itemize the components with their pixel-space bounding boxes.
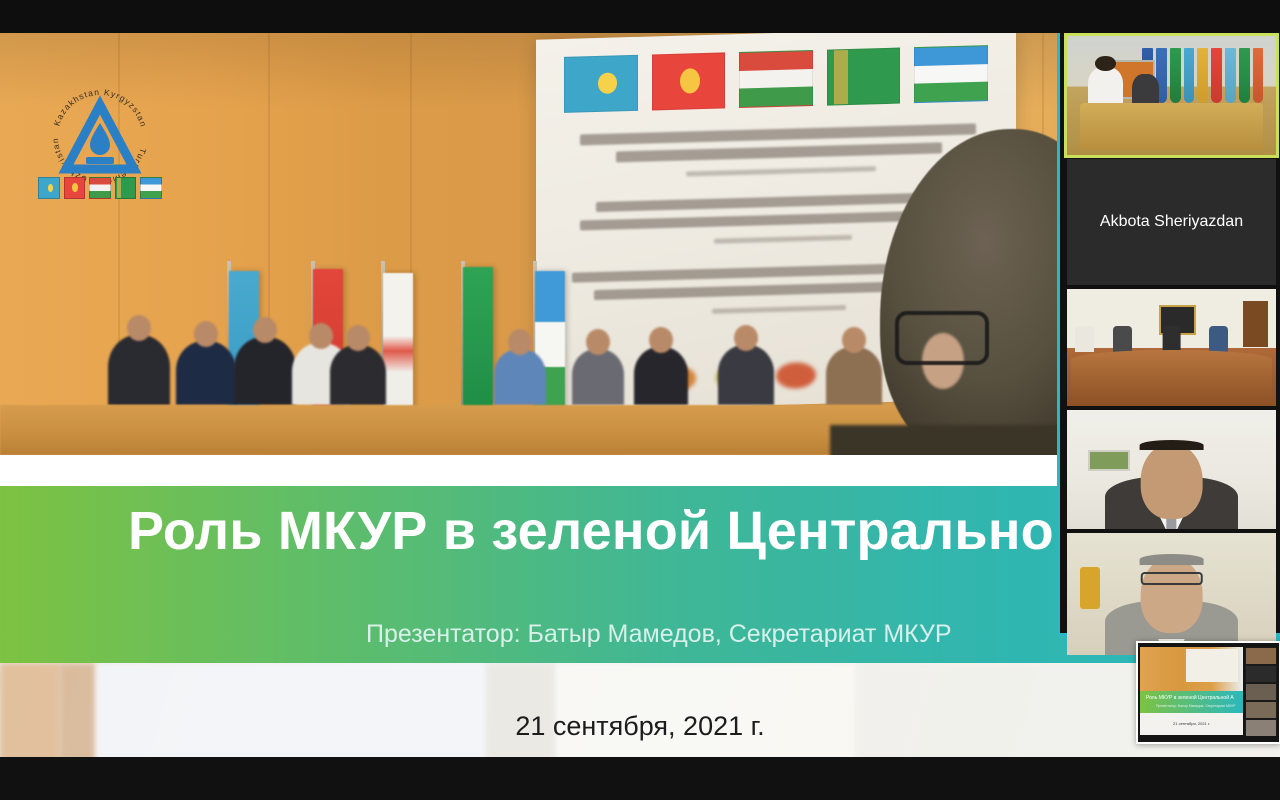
slide-subtitle: Презентатор: Батыр Мамедов, Секретариат … bbox=[366, 620, 952, 649]
tile5-glasses-icon bbox=[1140, 572, 1203, 585]
meeting-stage: Kazakhstan Kyrgyzstan Turkmenistan Uzbek… bbox=[0, 0, 1280, 800]
letterbox-top bbox=[0, 0, 1280, 33]
poster-flag-kyrgyzstan bbox=[652, 52, 726, 110]
screen-share-self-preview[interactable]: Роль МКУР в зеленой Центральной А Презен… bbox=[1136, 641, 1280, 744]
flag-turkmenistan bbox=[115, 177, 137, 199]
poster-flag-turkmenistan bbox=[827, 48, 901, 106]
slide-title: Роль МКУР в зеленой Центральной А bbox=[128, 502, 1057, 561]
pip-date: 21 сентября, 2021 г. bbox=[1140, 721, 1243, 726]
slide-date: 21 сентября, 2021 г. bbox=[0, 711, 1280, 742]
tile-participant-glasses[interactable] bbox=[1067, 533, 1276, 655]
flag-uzbekistan bbox=[140, 177, 162, 199]
tile5-shelf-object bbox=[1080, 567, 1101, 608]
poster-flag-kazakhstan bbox=[564, 55, 638, 113]
tile4-wall-frame bbox=[1088, 450, 1130, 471]
flag-kazakhstan bbox=[38, 177, 60, 199]
speaker-glasses bbox=[895, 311, 989, 365]
participant-video-rail: Akbota Sheriyazdan bbox=[1057, 33, 1280, 636]
pip-title: Роль МКУР в зеленой Центральной А bbox=[1146, 695, 1234, 701]
pip-participant-rail bbox=[1245, 647, 1277, 735]
tile3-table bbox=[1071, 350, 1272, 404]
tile1-person bbox=[1088, 67, 1124, 107]
participant-name-label: Akbota Sheriyazdan bbox=[1067, 159, 1276, 285]
flag-tajikistan bbox=[89, 177, 111, 199]
poster-flag-tajikistan bbox=[739, 50, 813, 108]
tile-boardroom[interactable] bbox=[1067, 289, 1276, 406]
pip-slide-thumbnail: Роль МКУР в зеленой Центральной А Презен… bbox=[1140, 647, 1243, 735]
logo-flag-row bbox=[38, 177, 162, 199]
poster-flag-uzbekistan bbox=[914, 45, 988, 103]
tile-akbota-sheriyazdan[interactable]: Akbota Sheriyazdan bbox=[1067, 159, 1276, 285]
slide-footer-photo bbox=[0, 663, 1280, 757]
tile-meeting-room-flags[interactable] bbox=[1067, 36, 1276, 155]
pip-subtitle: Презентатор: Батыр Мамедов, Секретариат … bbox=[1156, 704, 1235, 708]
tile-participant-suit[interactable] bbox=[1067, 410, 1276, 529]
tile1-flag-row bbox=[1142, 48, 1263, 103]
tile1-table bbox=[1080, 103, 1264, 151]
poster-flag-row bbox=[564, 45, 988, 113]
tile3-door bbox=[1243, 301, 1268, 348]
letterbox-bottom bbox=[0, 757, 1280, 800]
flag-kyrgyzstan bbox=[64, 177, 86, 199]
